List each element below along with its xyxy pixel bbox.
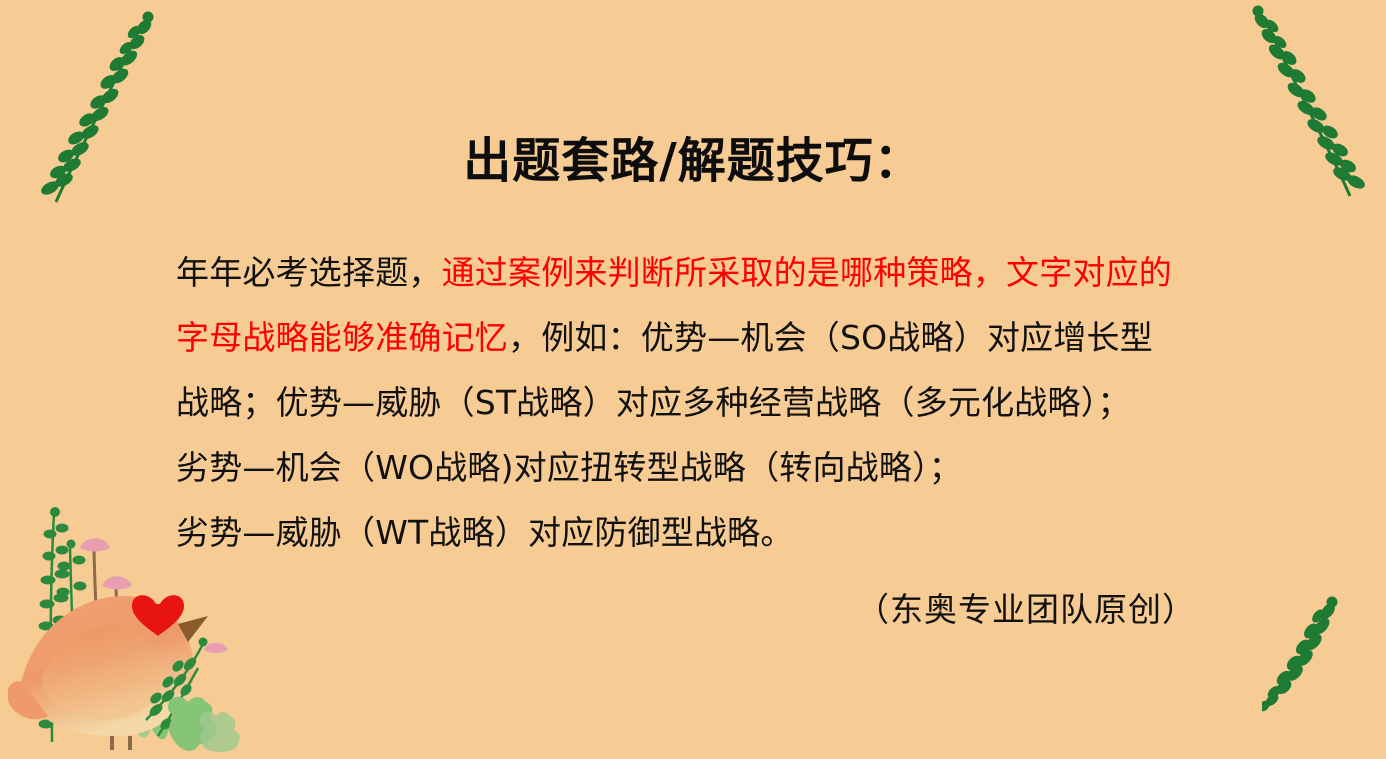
slide-canvas: 出题套路/解题技巧： 年年必考选择题，通过案例来判断所采取的是哪种策略，文字对应…: [0, 0, 1386, 759]
body-line-2: 字母战略能够准确记忆，例如：优势—机会（SO战略）对应增长型: [176, 305, 1266, 370]
body-segment-plain: ，例如：优势—机会（SO战略）对应增长型: [508, 318, 1153, 357]
body-segment-highlight: 字母战略能够准确记忆: [176, 318, 508, 357]
body-segment-plain: 战略；优势—威胁（ST战略）对应多种经营战略（多元化战略）；: [176, 383, 1131, 422]
leafy-sprig-icon: [1262, 578, 1386, 759]
body-line-3: 战略；优势—威胁（ST战略）对应多种经营战略（多元化战略）；: [176, 370, 1266, 435]
body-segment-plain: 劣势—威胁（WT战略）对应防御型战略。: [176, 513, 794, 552]
body-segment-plain: 年年必考选择题，: [176, 253, 442, 292]
body-segment-highlight: 通过案例来判断所采取的是哪种策略，文字对应的: [442, 253, 1172, 292]
body-line-1: 年年必考选择题，通过案例来判断所采取的是哪种策略，文字对应的: [176, 240, 1266, 305]
page-title: 出题套路/解题技巧：: [0, 131, 1386, 191]
body-line-4: 劣势—机会（WO战略)对应扭转型战略（转向战略）；: [176, 435, 1266, 500]
body-segment-plain: 劣势—机会（WO战略)对应扭转型战略（转向战略）；: [176, 448, 962, 487]
body-text-block: 年年必考选择题，通过案例来判断所采取的是哪种策略，文字对应的 字母战略能够准确记…: [176, 240, 1266, 565]
attribution-text: （东奥专业团队原创）: [0, 583, 1196, 631]
body-line-5: 劣势—威胁（WT战略）对应防御型战略。: [176, 500, 1266, 565]
